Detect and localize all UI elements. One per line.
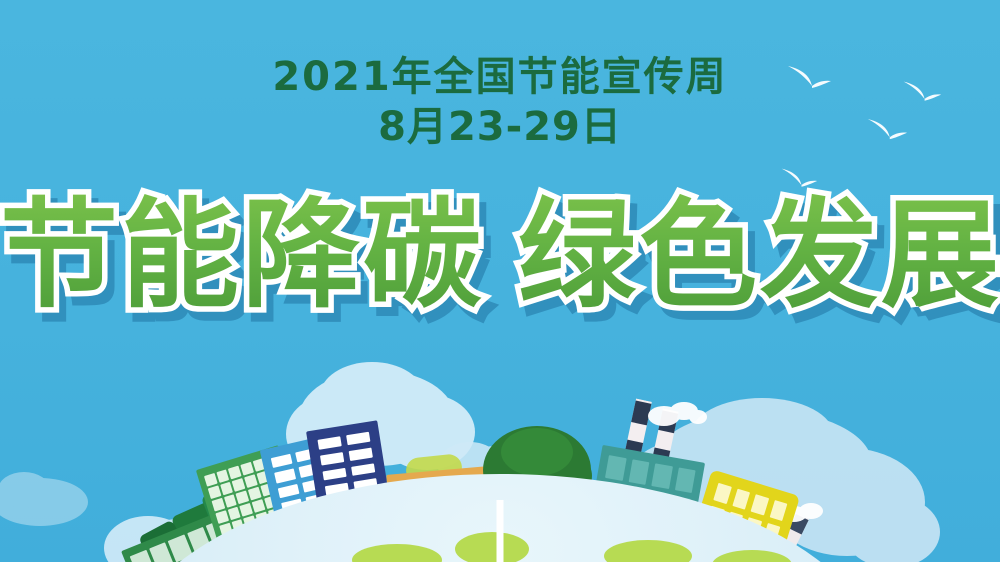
cloud-icon [0,458,100,528]
page-title: 2021年全国节能宣传周 [0,56,1000,98]
globe-seam [497,500,504,562]
heading-block: 2021年全国节能宣传周 8月23-29日 [0,56,1000,148]
land-patch [455,532,529,562]
headline-fill-a: 节能降碳 [0,186,484,324]
headline-block: 节能降碳绿色发展 节能降碳绿色发展 节能降碳绿色发展 [0,192,1000,332]
headline-text: 节能降碳绿色发展 节能降碳绿色发展 节能降碳绿色发展 [0,192,1000,319]
page-subtitle: 8月23-29日 [0,106,1000,148]
poster-canvas: 2021年全国节能宣传周 8月23-29日 节能降碳绿色发展 节能降碳绿色发展 … [0,0,1000,562]
smoke-puff-icon [646,398,708,428]
headline-fill-b: 绿色发展 [518,186,1000,324]
